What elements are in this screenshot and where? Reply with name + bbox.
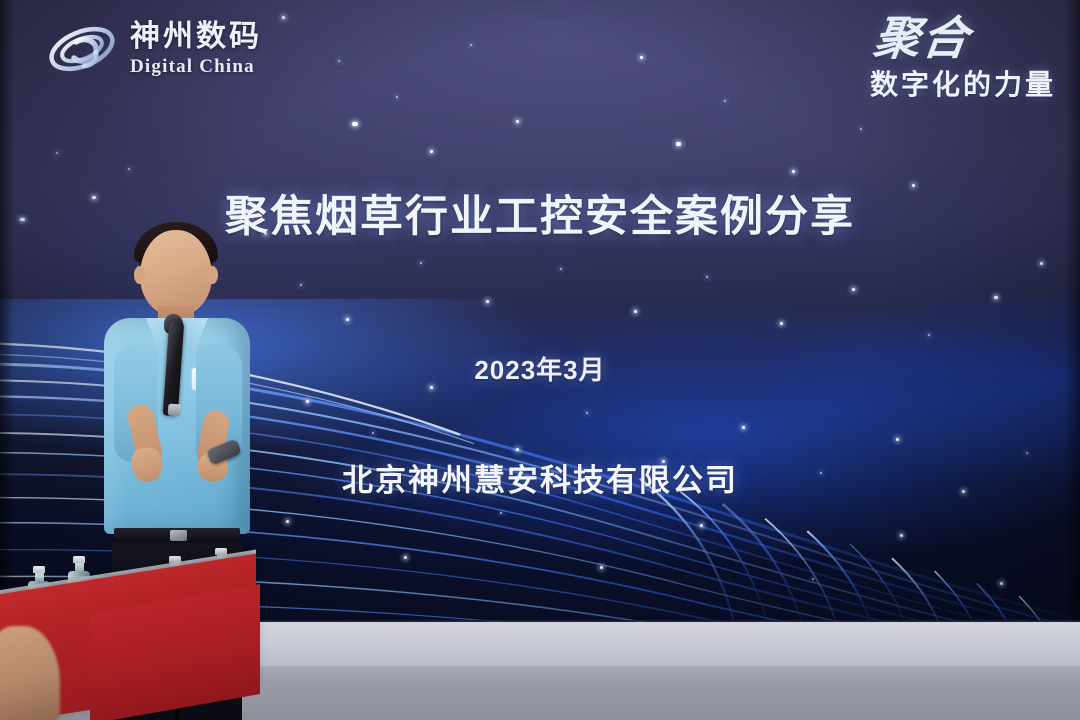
digital-china-logo: 神州数码 Digital China [46,18,262,80]
screen-right-edge-shadow [1064,0,1080,622]
event-tagline: 数字化的力量 [870,63,1056,103]
event-calligraphy-title: 聚合 [867,16,973,61]
speaker-belt-buckle [170,530,187,541]
bottle-cap [73,556,85,563]
screen-left-edge-shadow [0,0,14,622]
event-logo: 聚合 数字化的力量 [870,16,1056,103]
digital-china-name-cn: 神州数码 [130,22,262,52]
microphone-base [168,404,182,417]
bottle-neck [35,573,44,581]
digital-china-name-en: Digital China [130,57,262,76]
speaker-ear-right [207,266,218,284]
speaker-head [140,230,212,316]
bottle-cap [33,566,45,573]
conference-stage-photo: 聚焦烟草行业工控安全案例分享 2023年3月 北京神州慧安科技有限公司 [0,0,1080,720]
digital-china-wordmark: 神州数码 Digital China [130,22,262,76]
digital-china-swirl-icon [46,18,118,80]
speaker-ear-left [134,266,145,284]
bottle-neck [75,563,84,571]
